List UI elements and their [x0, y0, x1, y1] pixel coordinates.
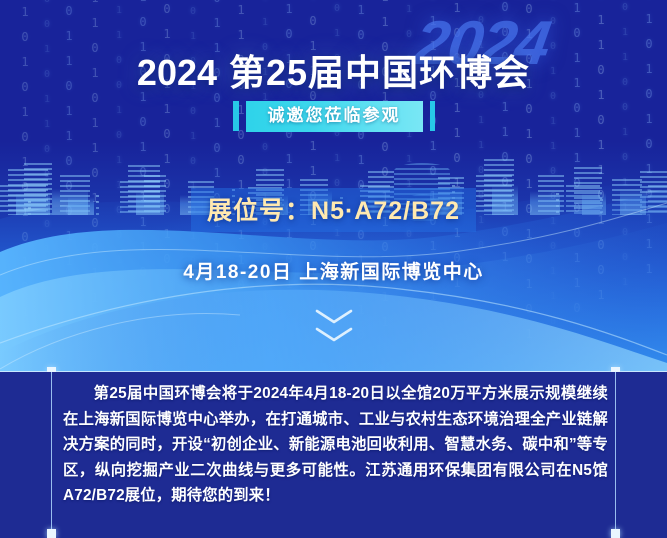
- chevron-down-icon-2: [314, 326, 354, 343]
- title-main: 第25届中国环博会: [229, 52, 530, 93]
- booth-number: 展位号：N5·A72/B72: [0, 188, 667, 232]
- invitation-text: 诚邀您莅临参观: [246, 101, 423, 132]
- description-paragraph: 第25届中国环博会将于2024年4月18-20日以全馆20万平方米展示规模继续在…: [63, 381, 608, 509]
- frame-marker-bottom-right: [611, 529, 620, 538]
- date-and-venue: 4月18-20日 上海新国际博览中心: [0, 257, 667, 284]
- page-title: 2024第25届中国环博会: [0, 44, 667, 96]
- frame-line-left: [51, 372, 52, 538]
- frame-marker-bottom-left: [47, 529, 56, 538]
- hero-banner: 1 0 1 0 1 0 1 0 1 0 1 0 1 0 0 0 1 0 1 1 …: [0, 0, 667, 372]
- double-chevron-down-icon: [0, 308, 667, 343]
- exhibition-poster: 1 0 1 0 1 0 1 0 1 0 1 0 1 0 0 0 1 0 1 1 …: [0, 0, 667, 538]
- frame-line-right: [615, 372, 616, 538]
- title-year: 2024: [137, 52, 217, 93]
- invitation-banner: 诚邀您莅临参观: [0, 101, 667, 132]
- booth-number-label: 展位号：N5·A72/B72: [191, 188, 476, 232]
- invitation-bar-right: [430, 101, 435, 131]
- description-section: 第25届中国环博会将于2024年4月18-20日以全馆20万平方米展示规模继续在…: [0, 372, 667, 538]
- chevron-down-icon-1: [314, 308, 354, 325]
- invitation-bar-left: [233, 101, 239, 131]
